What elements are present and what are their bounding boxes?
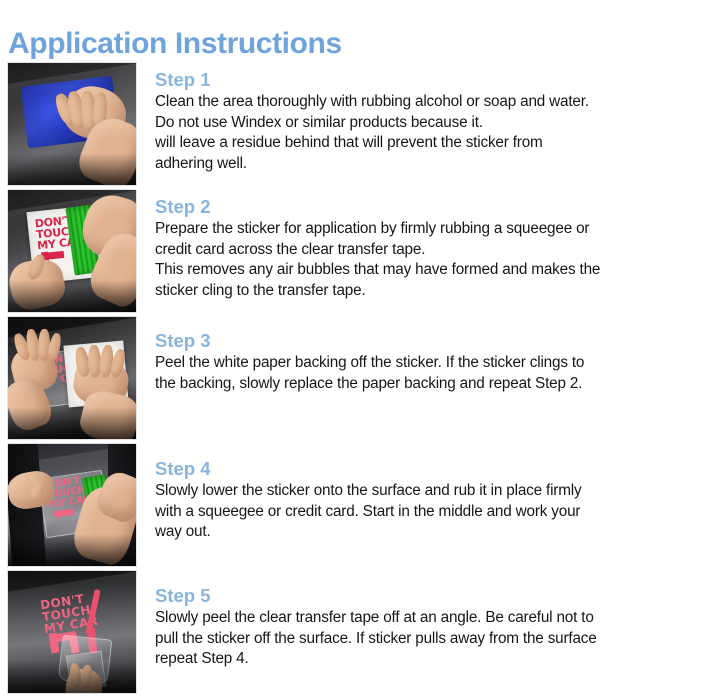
step-row-3: DON'T TOUCH MY CAR [0,316,707,443]
step-body-5: Slowly peel the clear transfer tape off … [155,608,703,670]
step-text-3: Step 3 Peel the white paper backing off … [155,330,703,394]
step-body-3: Peel the white paper backing off the sti… [155,353,703,394]
photo-step-3-peel-backing: DON'T TOUCH MY CAR [7,316,137,440]
photo-step-1-clean-surface [7,62,137,186]
step-heading-1: Step 1 [155,69,703,91]
step-heading-5: Step 5 [155,585,703,607]
step-row-1: Step 1 Clean the area thoroughly with ru… [0,62,707,189]
step-body-4: Slowly lower the sticker onto the surfac… [155,481,703,543]
photo-step-5-peel-transfer-tape: DON'T TOUCH MY CAR [7,570,137,694]
step-heading-3: Step 3 [155,330,703,352]
step-1-paragraph-2: will leave a residue behind that will pr… [155,133,703,174]
photo-step-4-apply-sticker: DON'T TOUCH MY CAR [7,443,137,567]
photo-step-2-squeegee-sticker: DON'T TOUCH MY CAR [7,189,137,313]
step-text-5: Step 5 Slowly peel the clear transfer ta… [155,585,703,670]
step-4-paragraph-1: Slowly lower the sticker onto the surfac… [155,481,703,543]
step-body-2: Prepare the sticker for application by f… [155,219,703,301]
step-body-1: Clean the area thoroughly with rubbing a… [155,92,703,174]
step-text-1: Step 1 Clean the area thoroughly with ru… [155,69,703,174]
page-title: Application Instructions [8,22,342,66]
step-2-paragraph-1: Prepare the sticker for application by f… [155,219,703,260]
step-row-5: DON'T TOUCH MY CAR Step 5 [0,570,707,697]
step-5-paragraph-1: Slowly peel the clear transfer tape off … [155,608,703,670]
step-text-2: Step 2 Prepare the sticker for applicati… [155,196,703,301]
step-3-paragraph-1: Peel the white paper backing off the sti… [155,353,703,394]
step-2-paragraph-2: This removes any air bubbles that may ha… [155,260,703,301]
instructions-page: Application Instructions [0,0,707,698]
step-row-4: DON'T TOUCH MY CAR Step 4 Slowly lower t… [0,443,707,570]
step-1-paragraph-1: Clean the area thoroughly with rubbing a… [155,92,703,133]
step-row-2: DON'T TOUCH MY CAR Step 2 Prepare the s [0,189,707,316]
step-heading-2: Step 2 [155,196,703,218]
step-text-4: Step 4 Slowly lower the sticker onto the… [155,458,703,543]
step-heading-4: Step 4 [155,458,703,480]
